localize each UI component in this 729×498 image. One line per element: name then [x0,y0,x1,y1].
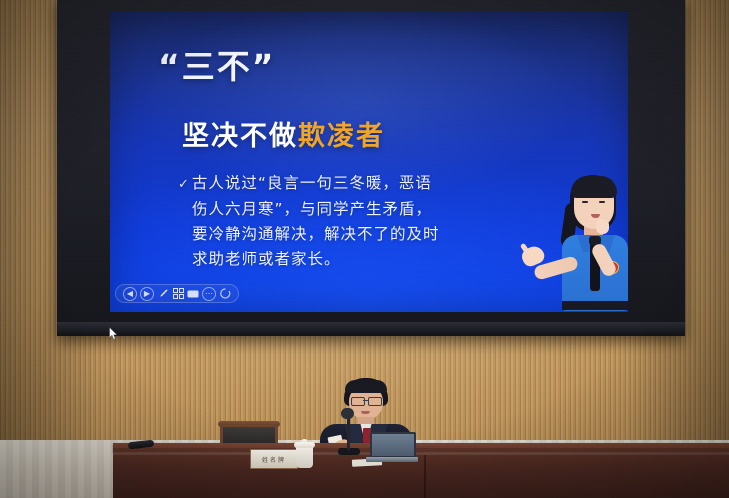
teacup [296,446,313,468]
speaker-fringe [345,380,387,393]
speaker-glasses-bridge [363,400,368,401]
bullet-check-icon: ✓ [178,177,190,192]
conference-table [113,448,729,498]
presentation-toolbar[interactable]: ◀ ▶ ⋯ [115,284,239,303]
microphone-stem [347,414,350,450]
microphone-head [341,408,354,419]
laptop [366,432,418,462]
teacup-knob [302,439,307,443]
presenter-illustration [540,173,628,312]
slide-body-line-1: 古人说过“良言一句三冬暖，恶语 [192,174,432,192]
slide-subtitle-highlight: 欺凌者 [298,121,385,152]
nameplate-text: 姓名牌 [262,455,286,464]
screen-icon[interactable] [187,288,199,300]
nameplate: 姓名牌 [250,449,298,469]
presenter-eye-left [582,201,588,203]
slide-body-line-2: 伤人六月寒”，与同学产生矛盾， [178,197,494,222]
more-options-icon[interactable]: ⋯ [202,287,216,301]
laptop-base [366,457,418,462]
photo-scene: “三不” 坚决不做欺凌者 ✓古人说过“良言一句三冬暖，恶语 伤人六月寒”，与同学… [0,0,729,498]
table-edge-highlight [113,452,729,455]
mouse-cursor [109,327,118,340]
presenter-eye-right [599,201,605,203]
slide-body-line-4: 求助老师或者家长。 [178,247,494,272]
projection-screen-frame-lip [57,322,685,336]
slide-grid-icon[interactable] [172,288,184,300]
presenter-fringe [571,176,617,198]
table-panel-seam [424,455,426,498]
pen-annotate-icon[interactable] [157,288,169,300]
slide-subtitle: 坚决不做欺凌者 [182,114,385,153]
slide-body-text: ✓古人说过“良言一句三冬暖，恶语 伤人六月寒”，与同学产生矛盾， 要冷静沟通解决… [178,171,494,272]
speaker-glasses-right-icon [368,397,382,406]
end-show-icon[interactable] [219,288,231,300]
speaker-glasses-left-icon [351,397,365,406]
previous-slide-icon[interactable]: ◀ [123,287,137,301]
laptop-screen [370,432,416,458]
next-slide-icon[interactable]: ▶ [140,287,154,301]
slide-title: “三不” [158,40,275,88]
presenter-belt [562,301,628,310]
slide-body-line-3: 要冷静沟通解决，解决不了的及时 [178,222,494,247]
slide-subtitle-plain: 坚决不做 [182,121,298,152]
projected-slide[interactable]: “三不” 坚决不做欺凌者 ✓古人说过“良言一句三冬暖，恶语 伤人六月寒”，与同学… [110,11,628,312]
presenter-hand-right [596,219,609,234]
